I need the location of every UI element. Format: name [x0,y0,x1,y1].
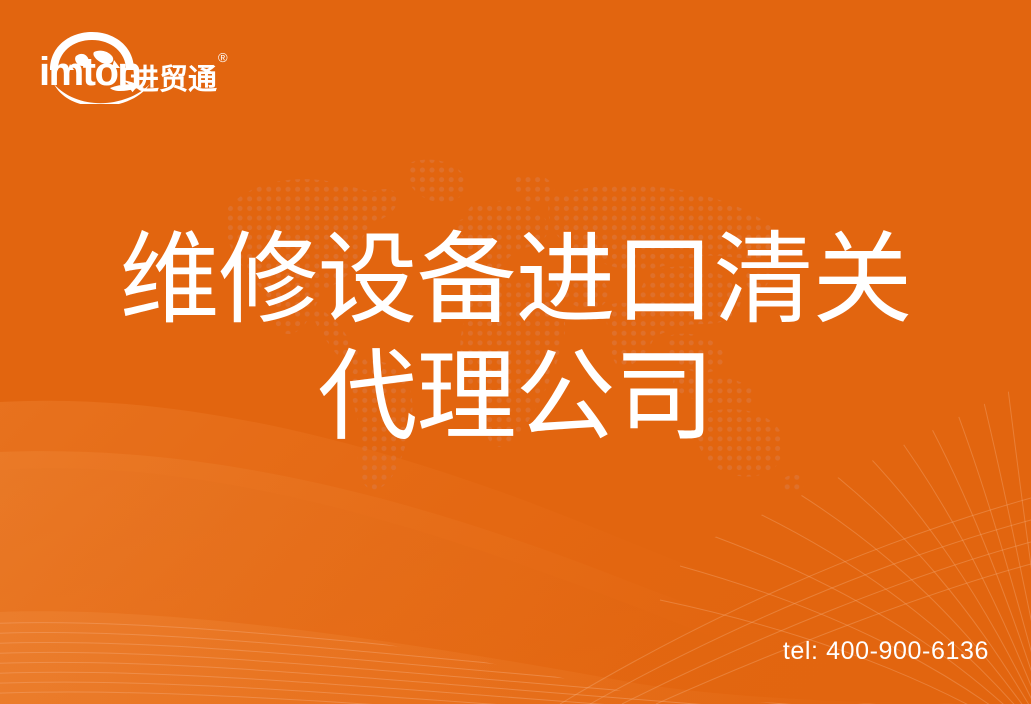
page-title: 维修设备进口清关 代理公司 [0,222,1031,456]
logo-wordmark-cn: 进贸通 [130,56,217,98]
registered-trademark-icon: ® [218,50,228,65]
poster-canvas: imton 进贸通 ® 维修设备进口清关 代理公司 tel: 400-900-6… [0,0,1031,704]
contact-phone[interactable]: tel: 400-900-6136 [783,637,989,666]
headline-line-2: 代理公司 [0,339,1031,456]
brand-logo[interactable]: imton 进贸通 ® [38,26,238,104]
logo-wordmark-latin: imton [39,50,140,95]
headline-line-1: 维修设备进口清关 [0,222,1031,339]
